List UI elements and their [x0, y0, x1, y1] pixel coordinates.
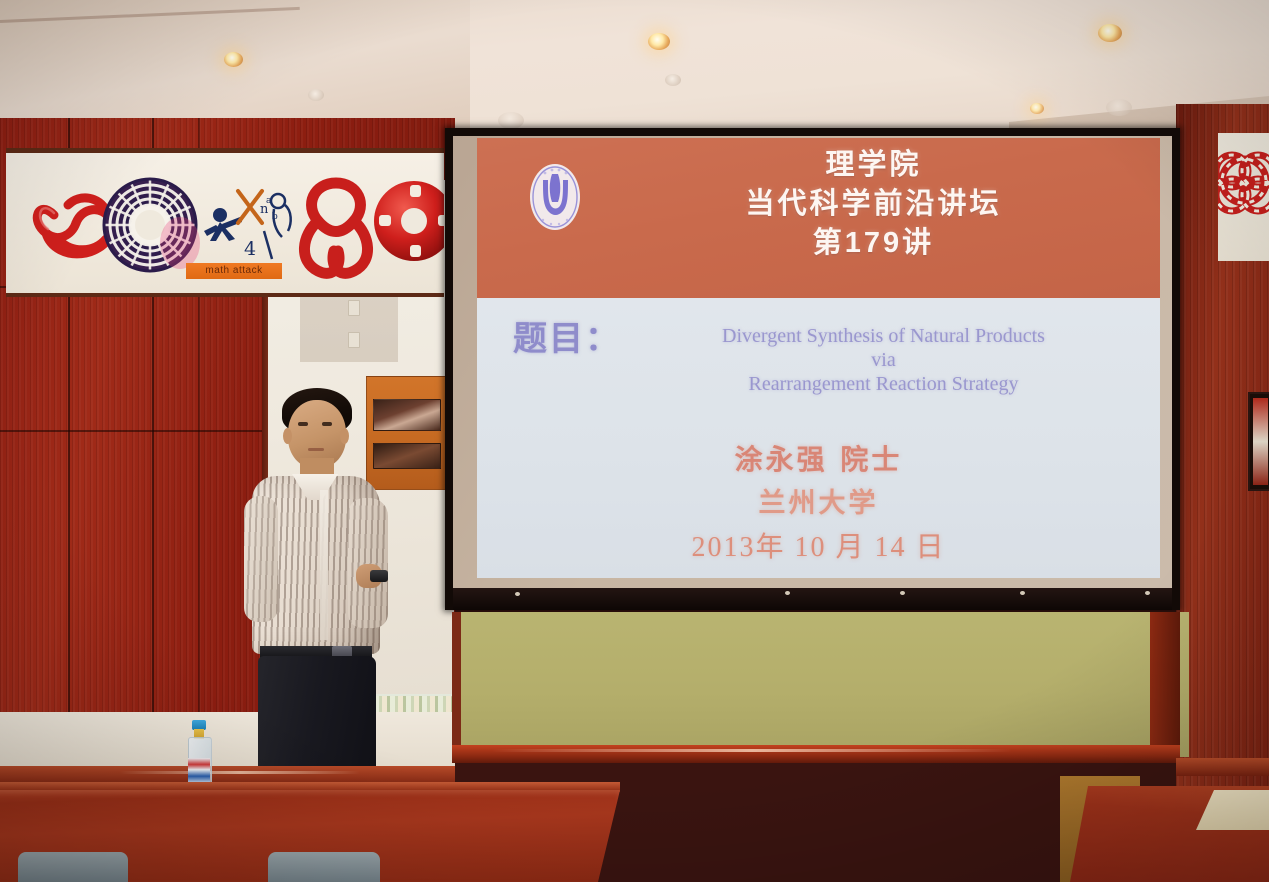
presenter-right-arm	[348, 498, 388, 628]
ceiling-speaker-icon	[498, 112, 524, 129]
slide-header-text: 理学院 当代科学前沿讲坛 第179讲	[587, 146, 1160, 263]
title-line-2: via	[625, 348, 1142, 372]
knot-art-panel-right	[1218, 133, 1269, 261]
celtic-knot-icon	[1218, 133, 1269, 261]
title-line-3: Rearrangement Reaction Strategy	[625, 372, 1142, 396]
screen-mount-dot	[1145, 591, 1150, 595]
header-line-3: 第179讲	[587, 224, 1160, 263]
presenter-left-arm	[244, 496, 278, 622]
framed-picture-right	[1248, 392, 1269, 491]
math-art-banner: n a b 4	[6, 148, 444, 297]
olive-panel-rail	[452, 745, 1180, 763]
projection-screen: 理学院 当代科学前沿讲坛 第179讲 题目： Divergent Synthes…	[445, 128, 1180, 610]
header-line-1: 理学院	[587, 146, 1160, 185]
screen-bottom-bar	[453, 588, 1172, 610]
presenter-mouth	[308, 448, 324, 451]
olive-wall-panel	[452, 612, 1189, 757]
header-line-2: 当代科学前沿讲坛	[587, 185, 1160, 224]
title-label: 题目：	[513, 320, 621, 358]
presentation-clicker-icon	[370, 570, 388, 582]
svg-text:4: 4	[244, 238, 256, 260]
slide-speaker-block: 涂永强 院士 兰州大学 2013年 10 月 14 日	[477, 438, 1160, 570]
downlight-icon	[224, 52, 243, 67]
lecture-hall-photo: n a b 4	[0, 0, 1269, 882]
speaker-name: 涂永强 院士	[477, 438, 1160, 482]
right-wall-rail	[1176, 758, 1269, 776]
red-torus-ring-icon	[372, 179, 444, 263]
ceiling-speaker-icon	[1106, 99, 1132, 116]
projected-slide: 理学院 当代科学前沿讲坛 第179讲 题目： Divergent Synthes…	[477, 138, 1160, 578]
wood-seam	[0, 430, 268, 432]
ceiling-speaker-icon	[308, 89, 324, 101]
wall-switch-icon[interactable]	[348, 332, 360, 348]
ceiling-speaker-icon	[665, 74, 681, 86]
downlight-icon	[1098, 24, 1122, 42]
downlight-icon	[648, 33, 670, 50]
chair-back	[18, 852, 128, 882]
wall-switch-icon[interactable]	[348, 300, 360, 316]
downlight-icon	[1030, 103, 1044, 114]
presenter-ear	[283, 428, 292, 444]
lecture-date: 2013年 10 月 14 日	[477, 526, 1160, 570]
title-english: Divergent Synthesis of Natural Products …	[625, 324, 1142, 396]
title-line-1: Divergent Synthesis of Natural Products	[625, 324, 1142, 348]
chair-back	[268, 852, 380, 882]
screen-mount-dot	[1020, 591, 1025, 595]
presenter	[236, 378, 386, 788]
presenter-eye	[322, 422, 332, 426]
presenter-eye	[298, 422, 308, 426]
screen-mount-dot	[785, 591, 790, 595]
screen-mount-dot	[900, 591, 905, 595]
university-emblem-icon	[525, 160, 585, 234]
bottle-label	[188, 758, 210, 784]
speaker-organization: 兰州大学	[477, 482, 1160, 526]
framed-picture-image	[1253, 398, 1268, 485]
screen-surface: 理学院 当代科学前沿讲坛 第179讲 题目： Divergent Synthes…	[453, 136, 1172, 602]
rail-highlight	[492, 749, 1012, 752]
math-attack-label: math attack	[186, 263, 282, 279]
rail-highlight	[120, 771, 360, 774]
screen-mount-dot	[515, 592, 520, 596]
olive-panel-side	[1150, 612, 1180, 762]
presenter-shirt-placket	[320, 490, 328, 640]
slide-body: 题目： Divergent Synthesis of Natural Produ…	[477, 298, 1160, 578]
slide-title-row: 题目： Divergent Synthesis of Natural Produ…	[513, 320, 1142, 396]
presenter-ear	[340, 428, 349, 444]
checkered-torus-icon	[98, 173, 202, 277]
